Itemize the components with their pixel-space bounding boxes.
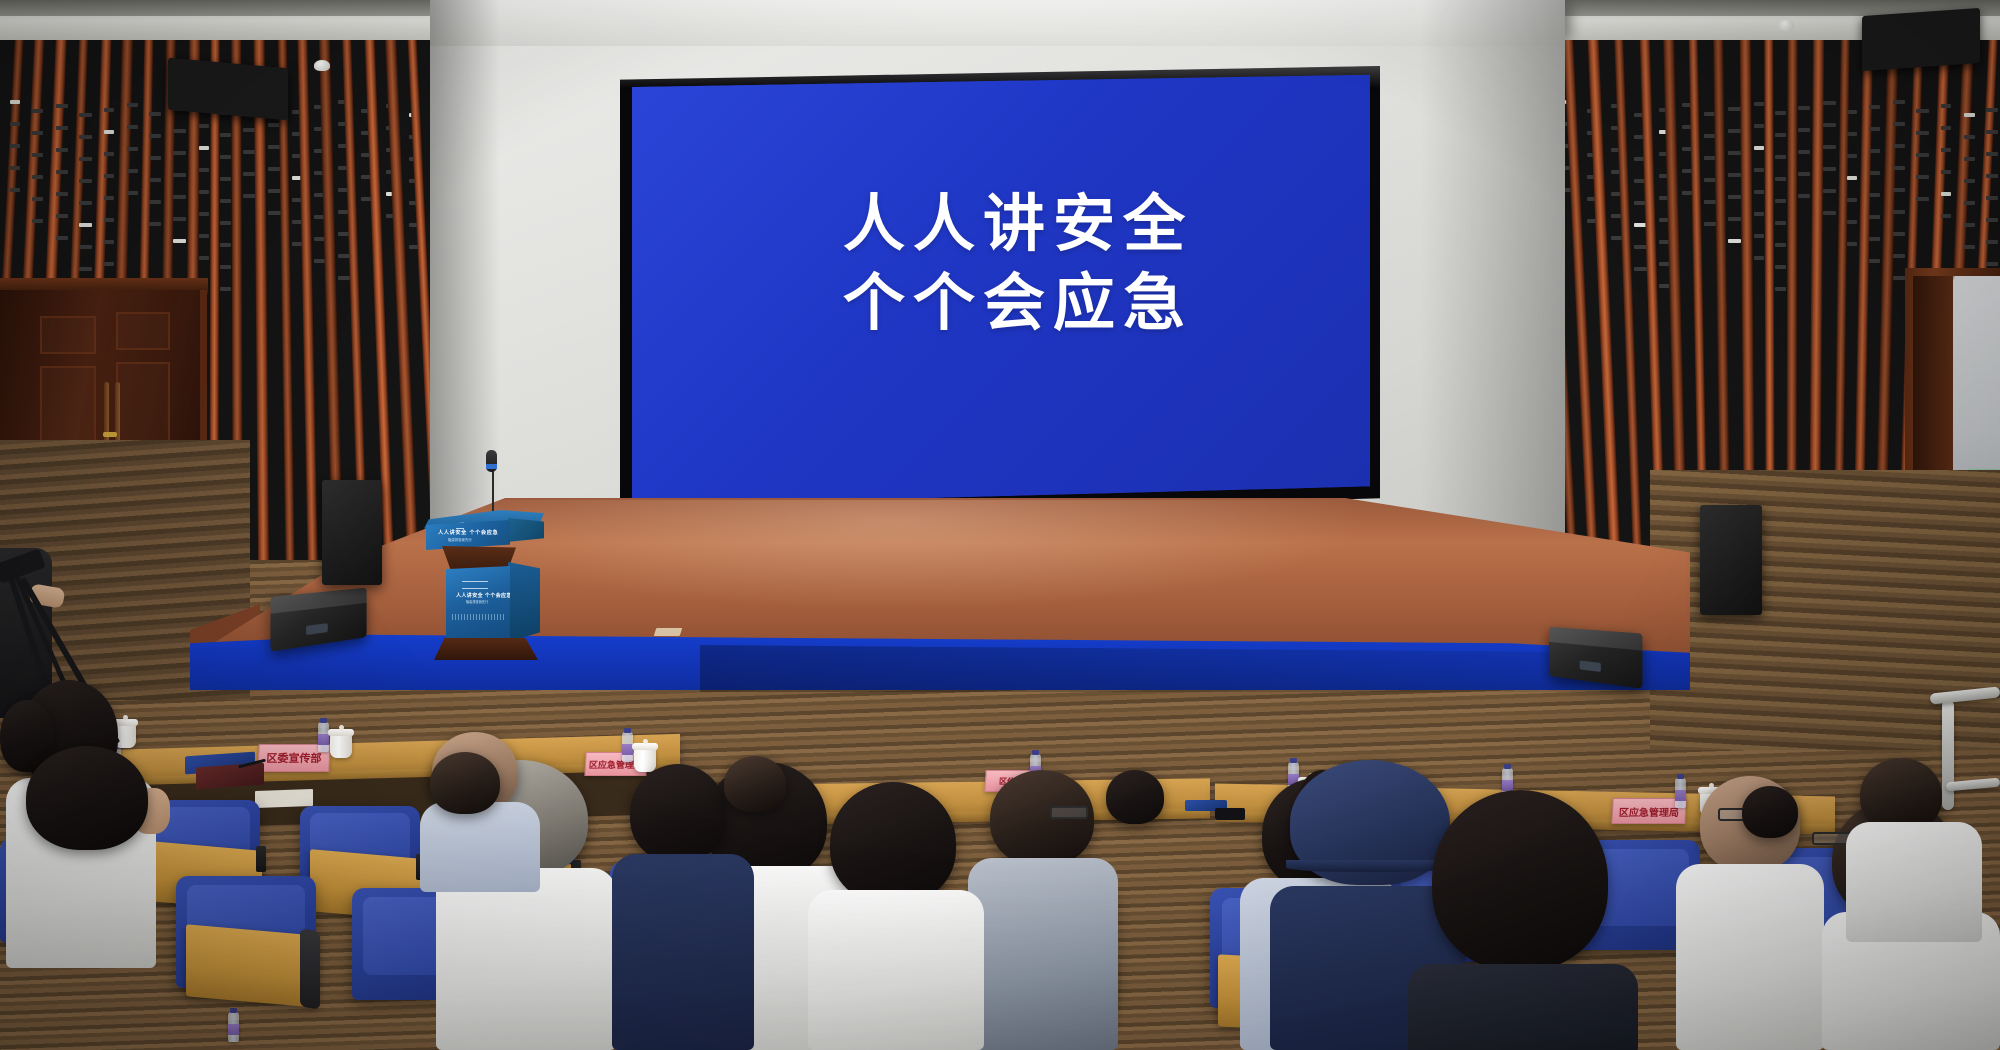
door-panel-upper-left: [40, 316, 96, 354]
wall-perforation: [149, 200, 161, 204]
wall-perforation: [268, 211, 281, 215]
wall-perforation: [104, 108, 114, 112]
podium-top-subtitle: 隐患排查我先行: [448, 537, 472, 542]
phone-on-table: [1215, 808, 1245, 820]
wall-perforation: [1775, 155, 1786, 159]
wall-perforation: [79, 135, 92, 139]
wall-perforation: [56, 236, 68, 240]
cup-3-knob: [643, 739, 648, 744]
wall-perforation: [173, 151, 186, 155]
wall-perforation: [1986, 218, 1998, 222]
bottle-3-cap: [624, 728, 631, 733]
wall-perforation: [149, 156, 161, 160]
wall-perforation: [1941, 126, 1951, 130]
wall-slat: [278, 40, 295, 600]
person-12-head: [1432, 790, 1608, 970]
wall-perforation: [243, 128, 255, 132]
person-9-head: [630, 764, 726, 862]
wall-perforation: [104, 240, 114, 244]
wall-perforation: [243, 172, 255, 176]
wall-perforation: [1847, 242, 1857, 246]
slogan-line-1: 人人讲安全: [843, 187, 1193, 260]
wall-perforation: [1964, 179, 1975, 183]
bottle-8-label: [228, 1024, 239, 1035]
wall-perforation: [1869, 193, 1880, 197]
person-7-glasses: [1050, 806, 1088, 819]
wall-perforation: [1798, 150, 1810, 154]
wall-perforation: [1728, 239, 1741, 243]
wall-shadow-right: [1420, 0, 1565, 600]
wall-perforation: [199, 190, 209, 194]
microphone-band: [486, 464, 497, 469]
wall-perforation: [1659, 262, 1669, 266]
wall-perforation: [1634, 267, 1647, 271]
cup-3: [634, 748, 656, 772]
podium-top-side: [508, 518, 544, 544]
bottle-7-label: [1675, 790, 1686, 801]
podium-top-emblem: [456, 522, 464, 529]
wall-perforation: [104, 218, 114, 222]
wall-perforation: [1986, 240, 1998, 244]
monitor-left-badge: [306, 623, 328, 635]
wall-perforation: [32, 197, 43, 201]
nameplate-1-label: 区委宣传部: [266, 750, 322, 766]
wall-perforation: [127, 125, 138, 129]
wall-perforation: [1775, 265, 1786, 269]
wall-perforation: [79, 157, 92, 161]
wall-perforation: [104, 262, 114, 266]
wall-perforation: [1823, 189, 1836, 193]
wall-perforation: [1986, 196, 1998, 200]
door-panel-upper-right: [116, 312, 170, 350]
wall-perforation: [1728, 129, 1741, 133]
wall-perforation: [1869, 127, 1880, 131]
wall-perforation: [243, 194, 255, 198]
bottle-2: [318, 722, 329, 752]
wall-perforation: [10, 166, 20, 170]
cup-3-lid: [632, 743, 658, 750]
wall-perforation: [173, 195, 186, 199]
bottle-2-label: [318, 734, 329, 745]
wall-perforation: [1775, 133, 1786, 137]
wall-perforation: [199, 124, 209, 128]
wall-perforation: [1869, 105, 1880, 109]
speaker-cabinet-right: [1700, 505, 1762, 615]
ceiling-speaker-left: [168, 58, 288, 120]
wall-perforation: [1823, 123, 1836, 127]
cup-1-knob: [123, 715, 128, 720]
wall-perforation: [1869, 237, 1880, 241]
wall-perforation: [1728, 151, 1741, 155]
wall-perforation: [79, 245, 92, 249]
wall-perforation: [1964, 135, 1975, 139]
wall-perforation: [1847, 220, 1857, 224]
wall-perforation: [79, 267, 92, 271]
wall-perforation: [1798, 194, 1810, 198]
wall-perforation: [1964, 157, 1975, 161]
wall-perforation: [1869, 149, 1880, 153]
paper-on-stage: [654, 628, 683, 636]
wall-perforation: [1986, 130, 1998, 134]
wall-perforation: [1986, 174, 1998, 178]
wall-perforation: [149, 112, 161, 116]
wall-perforation: [1775, 177, 1786, 181]
wall-perforation: [1941, 170, 1951, 174]
wall-perforation: [10, 100, 20, 104]
door-lock-plate: [103, 432, 117, 437]
podium-top-face: 人人讲安全 个个会应急 隐患排查我先行: [426, 520, 510, 550]
wall-perforation: [199, 212, 209, 216]
wall-perforation: [1964, 113, 1975, 117]
wall-perforation: [199, 168, 209, 172]
wall-perforation: [32, 131, 43, 135]
wall-perforation: [173, 239, 186, 243]
person-10-body: [808, 890, 984, 1050]
wall-perforation: [220, 133, 231, 137]
podium-front-emblem: [462, 581, 488, 589]
wall-perforation: [1964, 245, 1975, 249]
wall-perforation: [1704, 222, 1716, 226]
wall-perforation: [173, 173, 186, 177]
podium-front-subtitle: 隐患排查我先行: [466, 599, 488, 604]
wall-perforation: [220, 243, 231, 247]
wall-perforation: [1941, 214, 1951, 218]
wall-perforation: [79, 179, 92, 183]
wall-perforation: [1728, 217, 1741, 221]
person-15-head: [1860, 758, 1942, 832]
podium: 人人讲安全 个个会应急 隐患排查我先行 人人讲安全 个个会应急 隐患排查我先行: [418, 462, 546, 652]
wall-perforation: [1754, 146, 1764, 150]
cup-2-lid: [328, 729, 354, 736]
wall-perforation: [268, 189, 281, 193]
wall-perforation: [1941, 104, 1951, 108]
wall-perforation: [1798, 106, 1810, 110]
wall-perforation: [56, 126, 68, 130]
wall-perforation: [56, 148, 68, 152]
wall-perforation: [1916, 153, 1929, 157]
wall-perforation: [104, 174, 114, 178]
desk-m2[interactable]: [186, 924, 318, 1008]
wall-perforation: [1893, 166, 1905, 170]
paper-stack: [255, 789, 313, 808]
podium-top-title: 人人讲安全 个个会应急: [438, 529, 498, 536]
wall-perforation: [56, 214, 68, 218]
wall-perforation: [1986, 262, 1998, 266]
wall-perforation: [220, 177, 231, 181]
wall-perforation: [1754, 190, 1764, 194]
wall-perforation: [173, 129, 186, 133]
person-7-body: [968, 858, 1118, 1050]
wall-perforation: [1916, 131, 1929, 135]
wall-perforation: [1847, 110, 1857, 114]
person-9-body: [612, 854, 754, 1050]
wall-perforation: [1704, 200, 1716, 204]
wall-perforation: [243, 150, 255, 154]
wall-slat: [297, 40, 318, 600]
wall-perforation: [1893, 188, 1905, 192]
dome-camera-right: [1778, 20, 1794, 31]
bottle-5-cap: [1290, 758, 1297, 763]
podium-base: [434, 638, 538, 660]
wall-perforation: [56, 192, 68, 196]
wall-perforation: [10, 144, 20, 148]
wall-perforation: [1941, 192, 1951, 196]
wall-perforation: [10, 188, 20, 192]
bottle-7-cap: [1677, 774, 1684, 779]
wall-perforation: [1964, 223, 1975, 227]
wall-perforation: [1941, 148, 1951, 152]
wall-perforation: [1893, 254, 1905, 258]
wall-perforation: [149, 222, 161, 226]
wall-perforation: [1893, 276, 1905, 280]
led-screen[interactable]: 人人讲安全 个个会应急: [632, 74, 1370, 508]
wall-perforation: [1893, 144, 1905, 148]
wall-perforation: [220, 265, 231, 269]
wall-perforation: [1728, 107, 1741, 111]
wall-perforation: [1916, 109, 1929, 113]
wall-perforation: [1775, 287, 1786, 291]
wall-perforation: [32, 175, 43, 179]
wall-perforation: [127, 191, 138, 195]
wall-perforation: [1798, 172, 1810, 176]
person-3-body: [436, 868, 616, 1050]
wall-perforation: [79, 201, 92, 205]
bottle-6-cap: [1504, 764, 1511, 769]
person-15-body: [1846, 822, 1982, 942]
wall-perforation: [32, 219, 43, 223]
conference-hall-photo: 人人讲安全 个个会应急: [0, 0, 2000, 1050]
wall-perforation: [1916, 175, 1929, 179]
person-4-body: [420, 802, 540, 892]
wall-perforation: [199, 256, 209, 260]
bottle-2-cap: [320, 718, 327, 723]
wall-perforation: [56, 104, 68, 108]
person-17-head: [1106, 770, 1164, 824]
front-wall-soffit: [430, 0, 1565, 46]
monitor-right-badge: [1580, 660, 1601, 671]
wall-perforation: [1893, 122, 1905, 126]
desk-b1-hinge: [256, 846, 266, 872]
wall-perforation: [1847, 198, 1857, 202]
wall-perforation: [1893, 210, 1905, 214]
wall-perforation: [79, 113, 92, 117]
podium-front-decor: [452, 614, 504, 620]
wall-perforation: [79, 223, 92, 227]
person-11-cap-brim: [1286, 860, 1454, 872]
wall-perforation: [199, 146, 209, 150]
wall-perforation: [173, 217, 186, 221]
dome-camera-left: [314, 60, 330, 71]
wall-perforation: [127, 103, 138, 107]
wall-perforation: [220, 221, 231, 225]
wall-perforation: [1775, 221, 1786, 225]
bottle-7: [1675, 778, 1686, 808]
wall-perforation: [1823, 145, 1836, 149]
wall-perforation: [1775, 243, 1786, 247]
bottle-8-cap: [230, 1008, 237, 1013]
handrail-post: [1942, 700, 1954, 810]
wall-perforation: [1847, 176, 1857, 180]
wall-perforation: [1847, 154, 1857, 158]
screen-slogan: 人人讲安全 个个会应急: [632, 184, 1370, 343]
wall-perforation: [1754, 102, 1764, 106]
wall-perforation: [1986, 152, 1998, 156]
wall-perforation: [10, 122, 20, 126]
wall-perforation: [199, 234, 209, 238]
wall-perforation: [149, 178, 161, 182]
podium-body-side: [508, 562, 540, 642]
nameplate-4-label: 区应急管理局: [1619, 804, 1680, 819]
wall-perforation: [1754, 234, 1764, 238]
wall-perforation: [149, 134, 161, 138]
wall-perforation: [1847, 132, 1857, 136]
wall-perforation: [338, 276, 350, 280]
person-18-head: [1742, 786, 1798, 838]
wall-perforation: [1775, 199, 1786, 203]
podium-body-front: 人人讲安全 个个会应急 隐患排查我先行: [446, 566, 510, 644]
wall-perforation: [314, 259, 325, 263]
cup-5-knob: [1709, 783, 1714, 788]
wall-perforation: [1893, 100, 1905, 104]
wall-perforation: [1964, 201, 1975, 205]
wall-perforation: [1728, 195, 1741, 199]
wall-perforation: [32, 109, 43, 113]
cup-2: [330, 734, 352, 758]
wall-perforation: [220, 287, 231, 291]
wall-perforation: [1869, 171, 1880, 175]
wall-perforation: [1775, 111, 1786, 115]
wall-perforation: [1823, 167, 1836, 171]
wall-perforation: [32, 153, 43, 157]
bottle-8: [228, 1012, 239, 1042]
ceiling-speaker-right: [1862, 8, 1980, 71]
person-16-head: [724, 756, 786, 812]
person-5-head: [430, 752, 500, 814]
wall-perforation: [1869, 215, 1880, 219]
wall-perforation: [1823, 101, 1836, 105]
wall-perforation: [1728, 173, 1741, 177]
bottle-4-cap: [1032, 750, 1039, 755]
wall-perforation: [1986, 108, 1998, 112]
wall-perforation: [1893, 232, 1905, 236]
person-13-body: [1676, 864, 1824, 1050]
wall-perforation: [220, 155, 231, 159]
wall-perforation: [1916, 197, 1929, 201]
wall-perforation: [127, 169, 138, 173]
wall-perforation: [1823, 211, 1836, 215]
cup-2-knob: [339, 725, 344, 730]
wall-perforation: [1869, 259, 1880, 263]
slogan-line-2: 个个会应急: [666, 263, 1370, 342]
person-10-head: [830, 782, 956, 904]
wall-perforation: [1798, 128, 1810, 132]
person-19-head: [26, 746, 148, 850]
podium-front-title: 人人讲安全 个个会应急: [456, 592, 510, 599]
armrest-m2: [300, 928, 320, 1009]
wall-perforation: [1754, 212, 1764, 216]
wall-perforation: [1754, 168, 1764, 172]
wall-perforation: [1754, 124, 1764, 128]
wall-perforation: [220, 199, 231, 203]
person-12-body: [1408, 964, 1638, 1050]
wall-perforation: [104, 130, 114, 134]
speaker-cabinet-left: [322, 480, 382, 585]
wall-perforation: [104, 152, 114, 156]
wall-slat: [1614, 40, 1643, 580]
wall-perforation: [104, 196, 114, 200]
wall-perforation: [1659, 284, 1669, 288]
wall-perforation: [1754, 256, 1764, 260]
wall-perforation: [56, 170, 68, 174]
wall-perforation: [127, 147, 138, 151]
